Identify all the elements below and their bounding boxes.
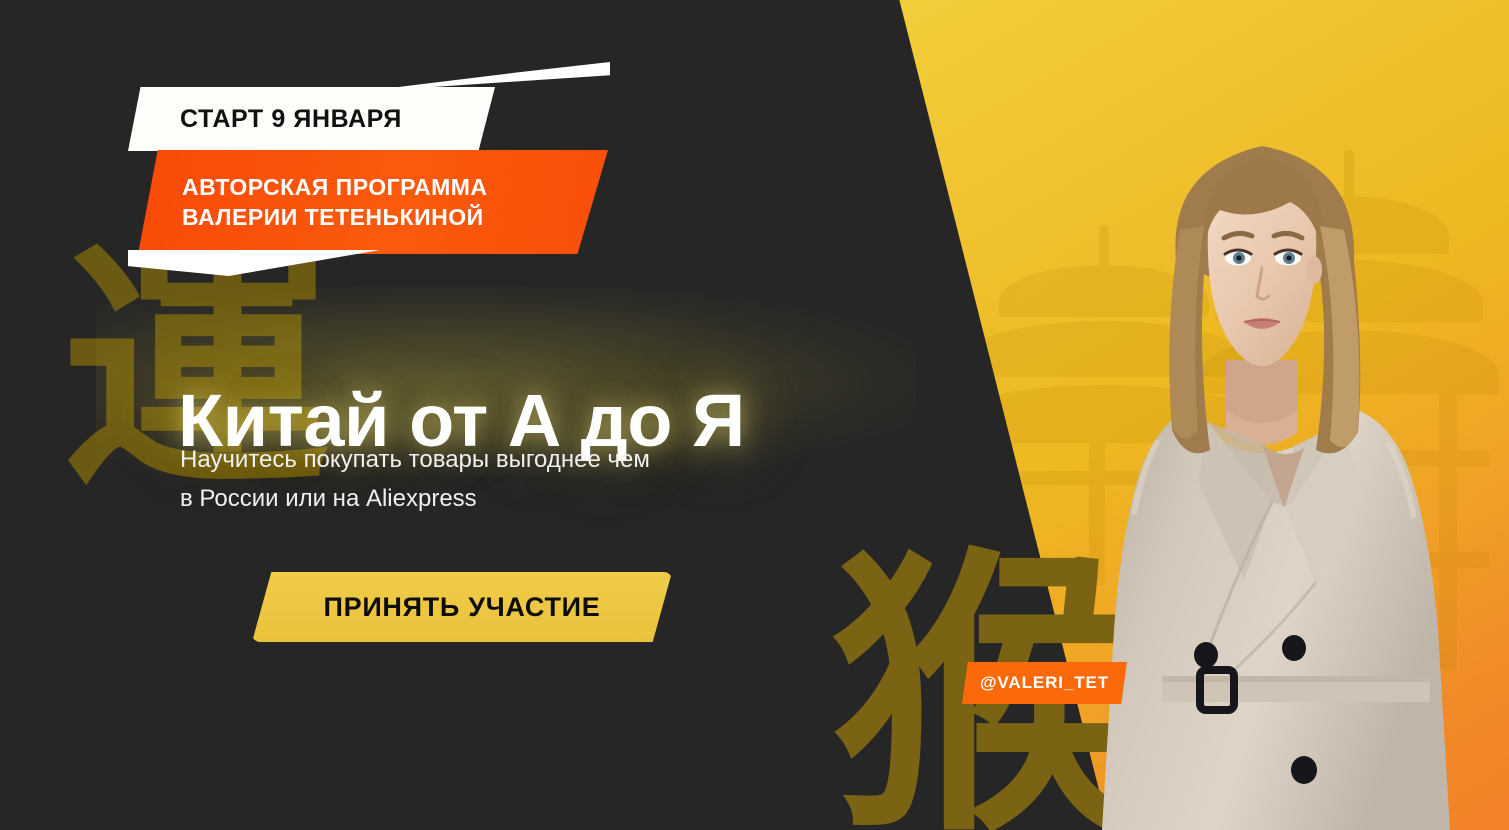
instagram-handle-badge[interactable]: @VALERI_TET: [962, 662, 1127, 704]
program-author-line-2: ВАЛЕРИИ ТЕТЕНЬКИНОЙ: [182, 202, 608, 232]
instagram-handle-label: @VALERI_TET: [980, 673, 1109, 693]
subtitle-line-2: в России или на Aliexpress: [180, 480, 780, 519]
badge-stack: СТАРТ 9 ЯНВАРЯ АВТОРСКАЯ ПРОГРАММА ВАЛЕР…: [118, 62, 718, 277]
program-author-badge: АВТОРСКАЯ ПРОГРАММА ВАЛЕРИИ ТЕТЕНЬКИНОЙ: [138, 150, 608, 254]
start-date-label: СТАРТ 9 ЯНВАРЯ: [180, 105, 402, 134]
promo-banner: 運 猴 СТАРТ 9 ЯНВАРЯ АВТОРСКАЯ ПРОГРАММА В…: [0, 0, 1509, 830]
subtitle-line-1: Научитесь покупать товары выгоднее чем: [180, 441, 780, 480]
program-author-line-1: АВТОРСКАЯ ПРОГРАММА: [182, 172, 608, 202]
subtitle: Научитесь покупать товары выгоднее чем в…: [180, 441, 780, 519]
participate-button-label: ПРИНЯТЬ УЧАСТИЕ: [324, 592, 601, 623]
participate-button[interactable]: ПРИНЯТЬ УЧАСТИЕ: [252, 572, 672, 642]
decorative-sliver-bottom: [128, 250, 380, 276]
presenter-photo: [1058, 110, 1509, 830]
start-date-badge: СТАРТ 9 ЯНВАРЯ: [128, 87, 495, 151]
